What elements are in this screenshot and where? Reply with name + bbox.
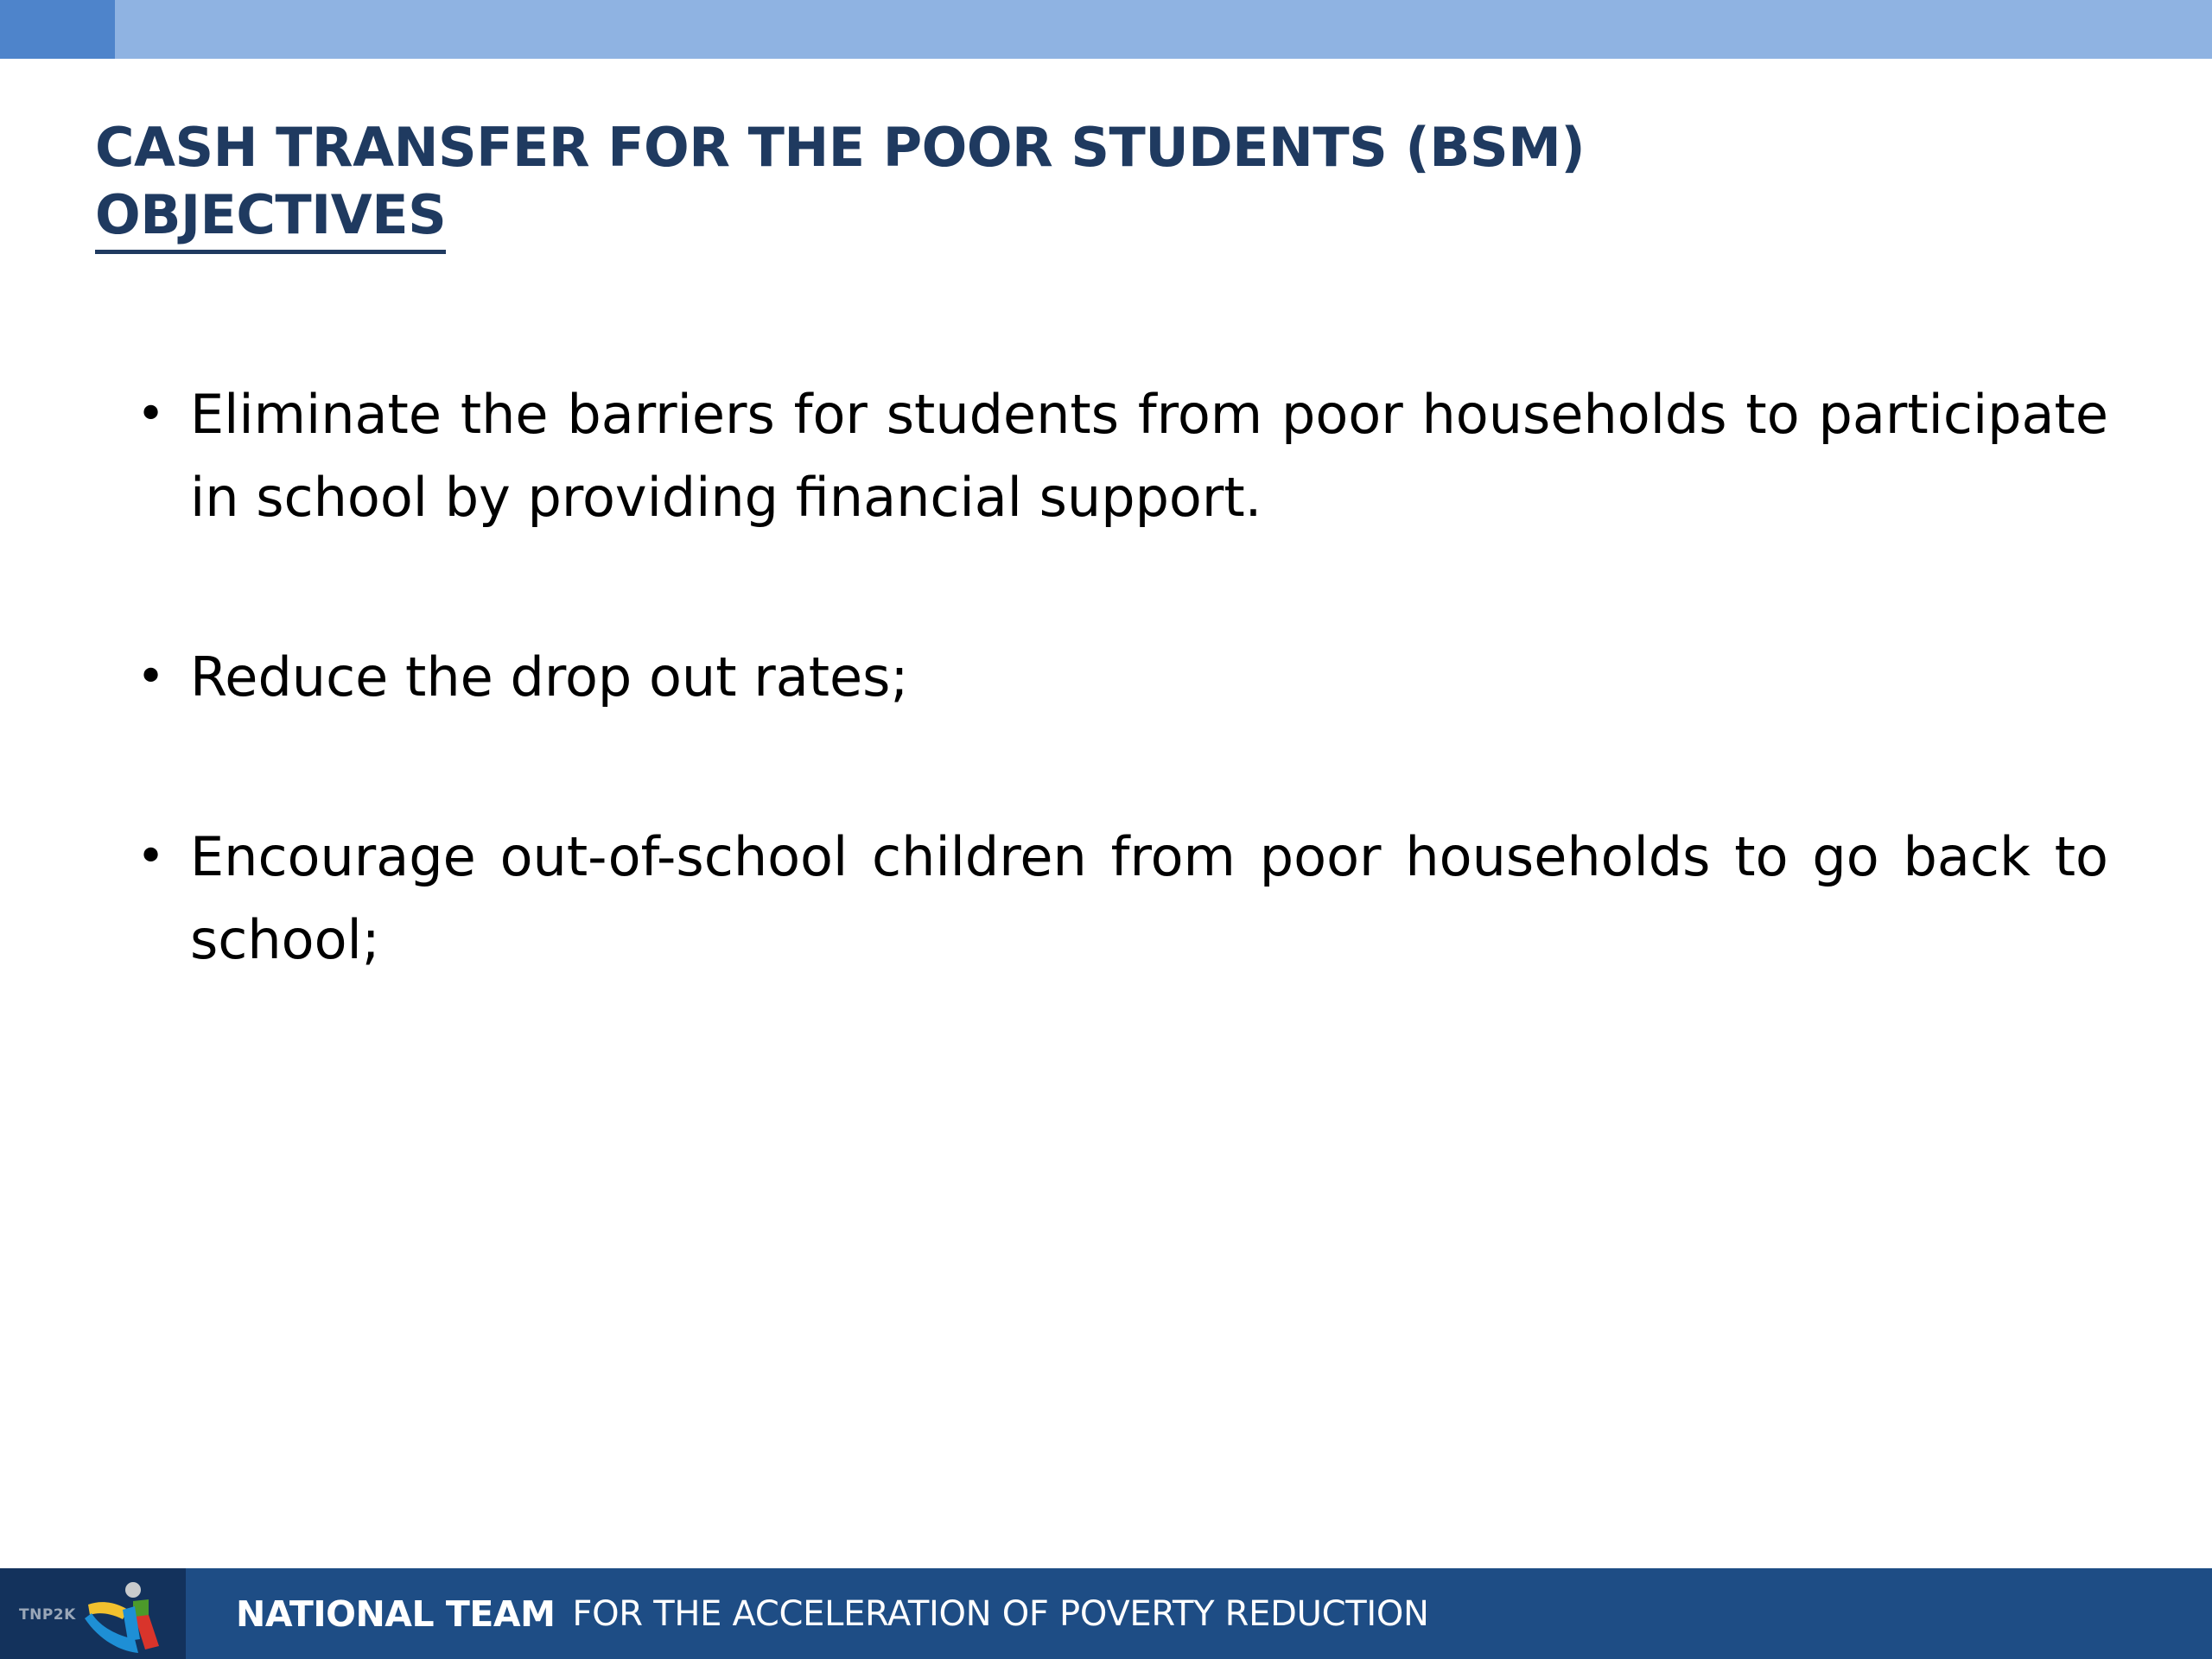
- list-item-text: Reduce the drop out rates;: [190, 636, 2108, 719]
- list-item-text: Eliminate the barriers for students from…: [190, 373, 2108, 539]
- slide-header-bar: [0, 0, 2212, 59]
- slide-footer: TNP2K NATIONAL TEAM FOR THE ACCELERATION…: [0, 1568, 2212, 1659]
- footer-title-bar: NATIONAL TEAM FOR THE ACCELERATION OF PO…: [186, 1568, 2212, 1659]
- list-item-text: Encourage out-of-school children from po…: [190, 816, 2108, 982]
- page-title: CASH TRANSFER FOR THE POOR STUDENTS (BSM…: [95, 114, 2108, 254]
- title-line-2: OBJECTIVES: [95, 181, 446, 255]
- list-item: • Reduce the drop out rates;: [121, 636, 2108, 719]
- header-band: [115, 0, 2212, 59]
- bullet-icon: •: [121, 636, 190, 719]
- objectives-list: • Eliminate the barriers for students fr…: [121, 373, 2108, 982]
- footer-org-tagline: FOR THE ACCELERATION OF POVERTY REDUCTIO…: [572, 1594, 1428, 1634]
- footer-org-name: NATIONAL TEAM: [236, 1593, 555, 1635]
- tnp2k-wordmark: TNP2K: [19, 1606, 76, 1624]
- tnp2k-runner-logo-icon: [79, 1579, 175, 1656]
- slide: CASH TRANSFER FOR THE POOR STUDENTS (BSM…: [0, 0, 2212, 1659]
- bullet-icon: •: [121, 373, 190, 456]
- bullet-icon: •: [121, 816, 190, 899]
- title-line-1: CASH TRANSFER FOR THE POOR STUDENTS (BSM…: [95, 114, 2108, 181]
- list-item: • Eliminate the barriers for students fr…: [121, 373, 2108, 539]
- list-item: • Encourage out-of-school children from …: [121, 816, 2108, 982]
- footer-logo-block: TNP2K: [0, 1568, 186, 1659]
- header-accent-block: [0, 0, 115, 59]
